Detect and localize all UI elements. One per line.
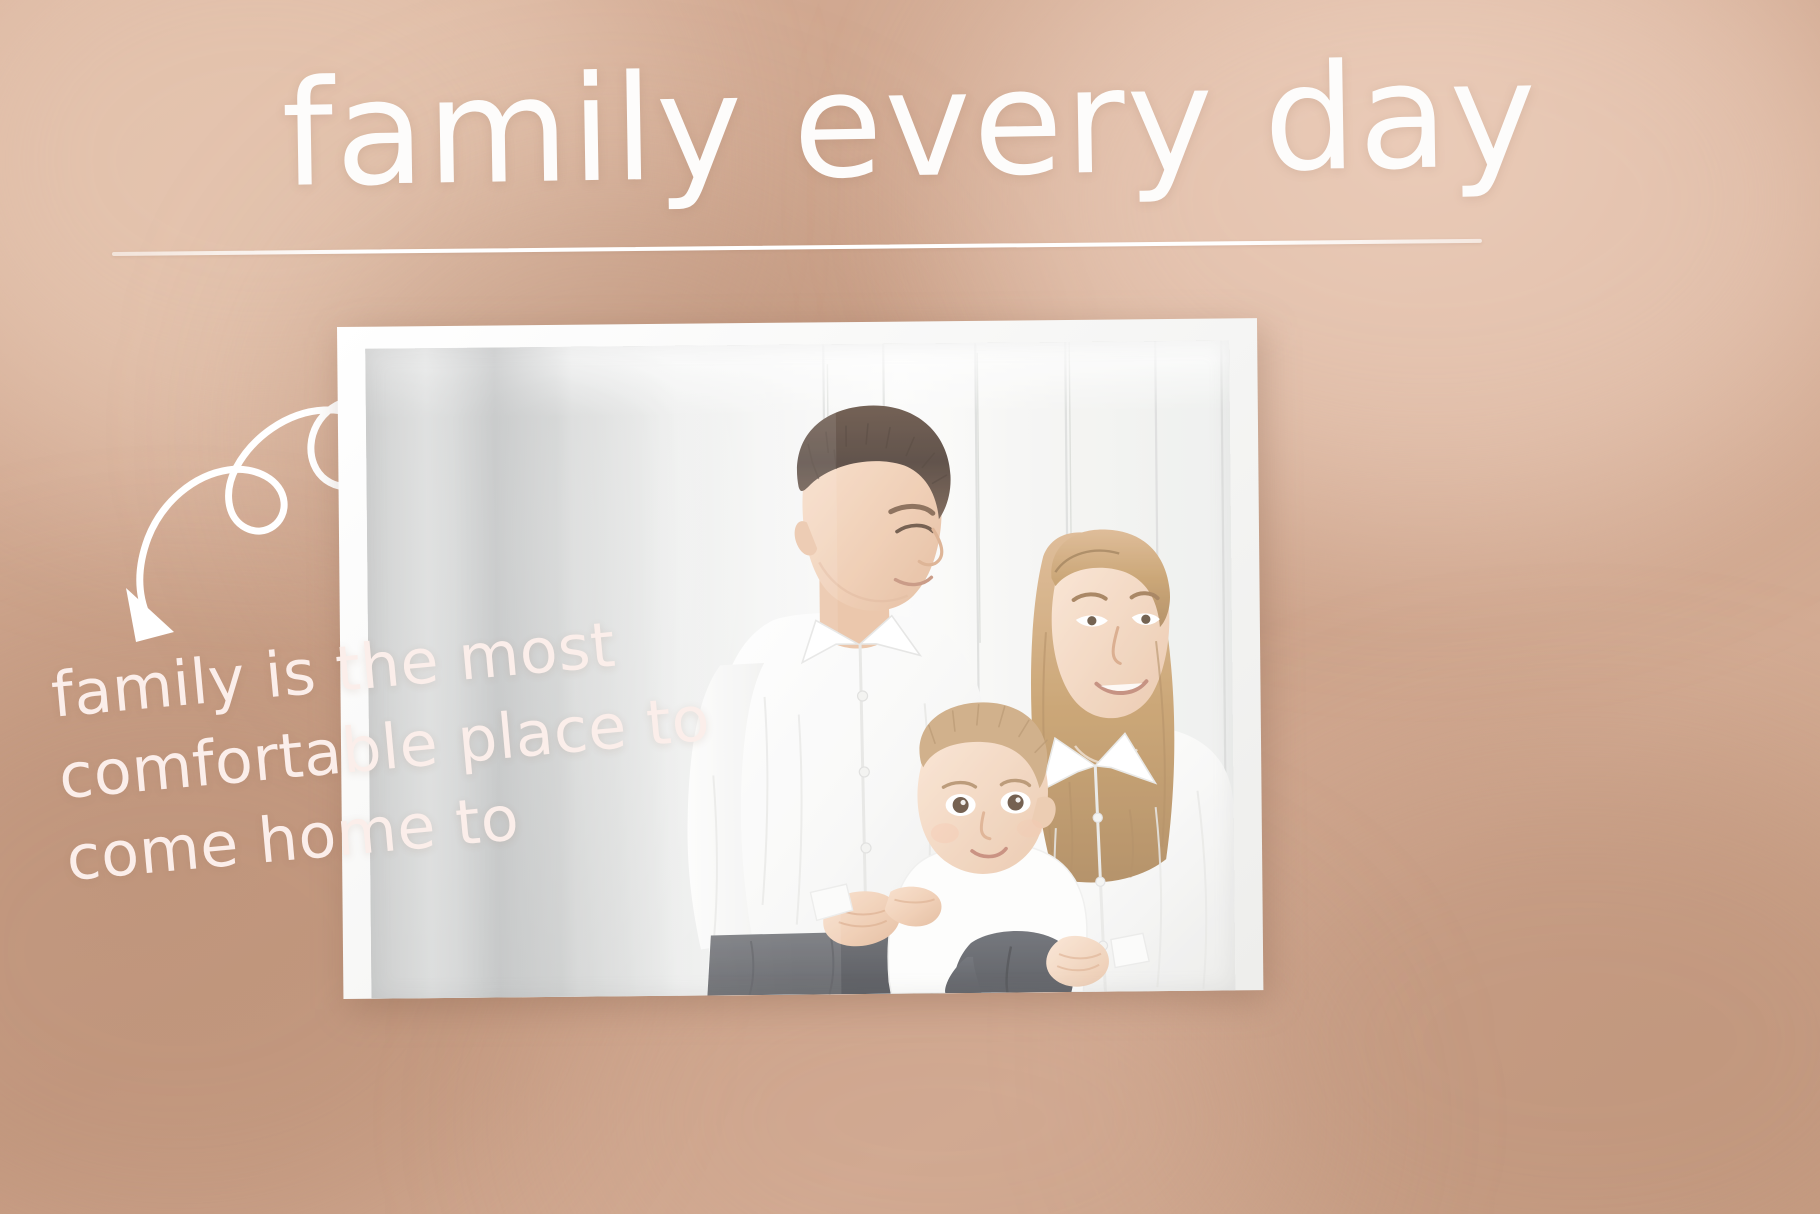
- poster-title: family every day: [0, 38, 1820, 213]
- background-blob-bottom-right: [1180, 760, 1820, 1214]
- poster-canvas: family every day: [0, 0, 1820, 1214]
- arrow-head: [126, 588, 174, 642]
- title-divider-rule: [112, 239, 1482, 256]
